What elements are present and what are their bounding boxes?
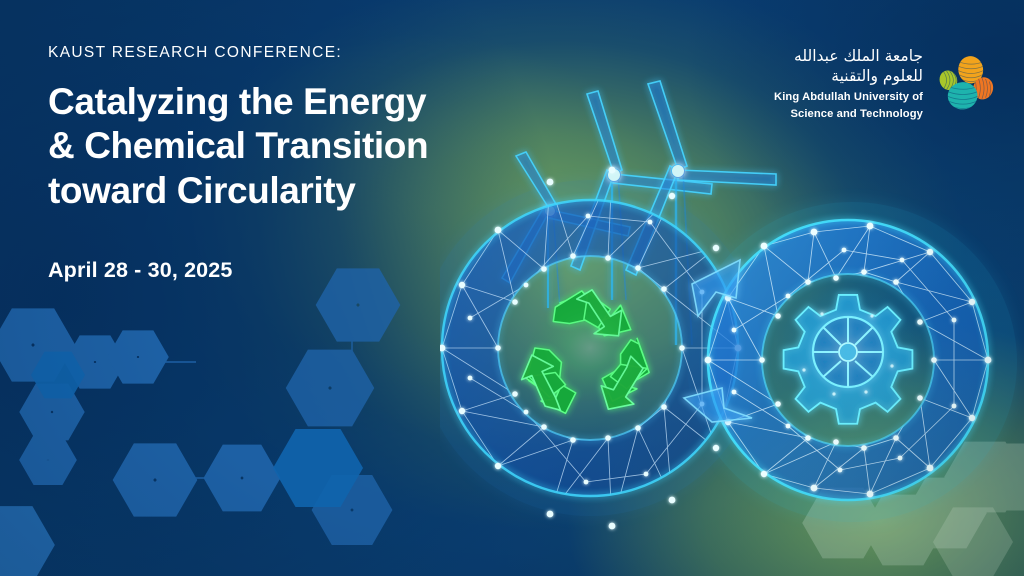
kaust-logo-english-line-1: King Abdullah University of (774, 90, 923, 104)
kaust-petal-mark-icon (936, 53, 998, 115)
event-dates: April 28 - 30, 2025 (48, 258, 518, 283)
eyebrow-label: KAUST RESEARCH CONFERENCE: (48, 44, 518, 63)
headline-text-block: KAUST RESEARCH CONFERENCE: Catalyzing th… (48, 44, 518, 283)
headline-line-3: toward Circularity (48, 169, 518, 214)
headline-line-2: & Chemical Transition (48, 124, 518, 169)
kaust-logo-arabic-line-2: للعلوم والتقنية (774, 66, 923, 86)
conference-poster: KAUST RESEARCH CONFERENCE: Catalyzing th… (0, 0, 1024, 576)
page-title: Catalyzing the Energy & Chemical Transit… (48, 80, 518, 214)
kaust-logo-english-line-2: Science and Technology (774, 107, 923, 121)
kaust-logo-wordmark: جامعة الملك عبدالله للعلوم والتقنية King… (774, 46, 923, 122)
kaust-logo-arabic-line-1: جامعة الملك عبدالله (774, 46, 923, 66)
headline-line-1: Catalyzing the Energy (48, 80, 518, 125)
kaust-logo: جامعة الملك عبدالله للعلوم والتقنية King… (774, 46, 998, 122)
